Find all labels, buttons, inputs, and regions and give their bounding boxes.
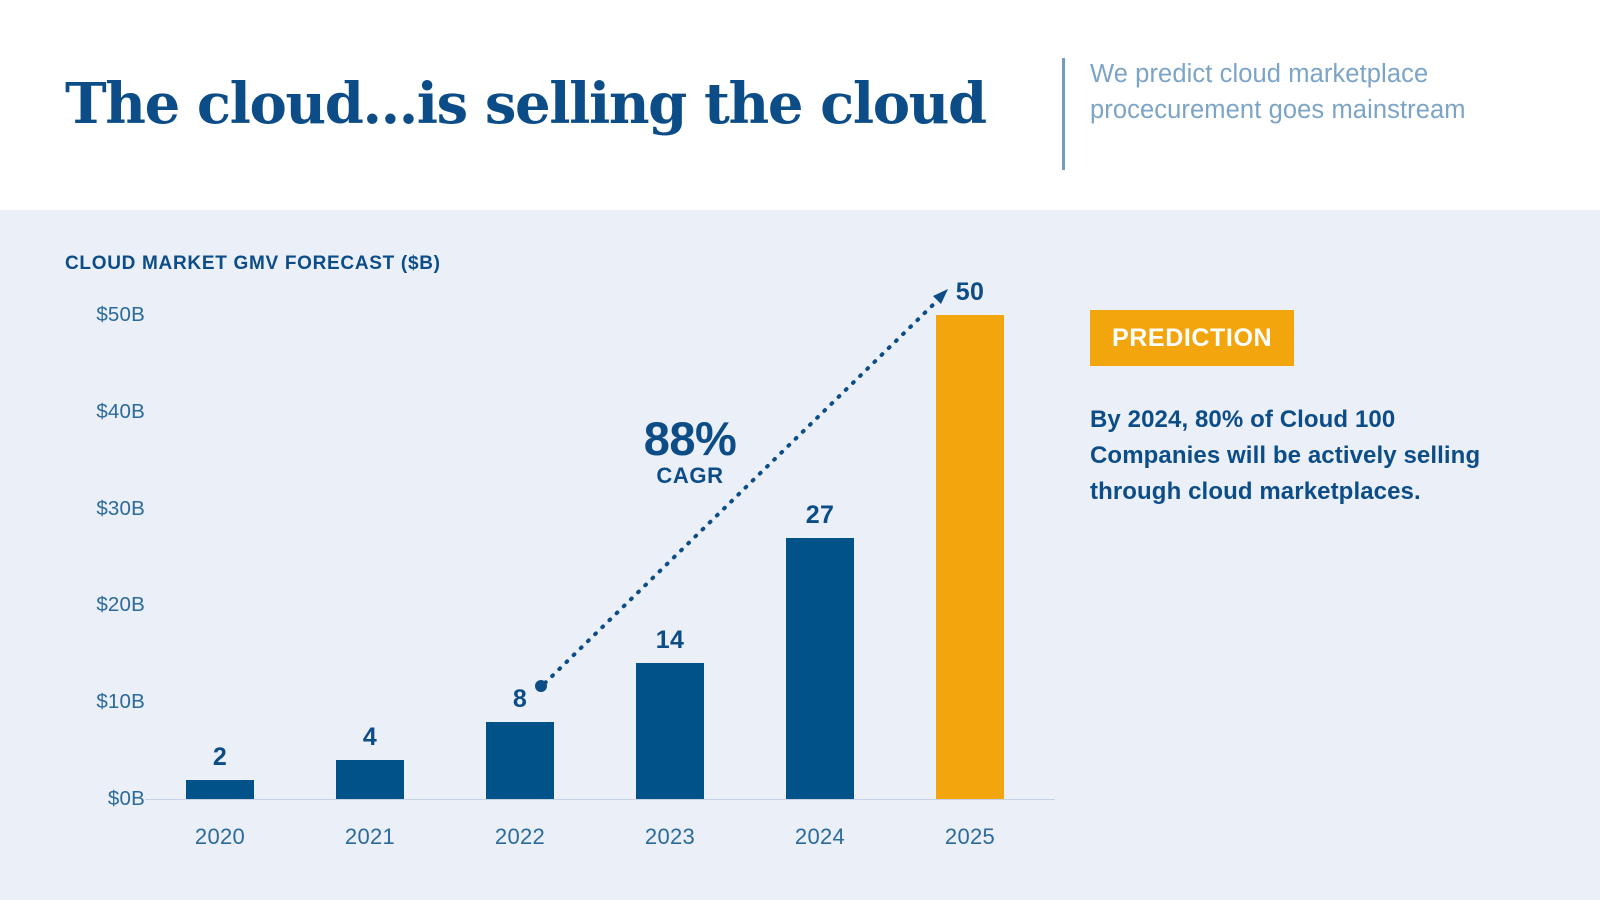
y-axis-tick-label: $10B bbox=[25, 690, 145, 714]
bar-2020[interactable] bbox=[186, 780, 254, 799]
bar-value-label: 14 bbox=[595, 626, 745, 655]
bar-2024[interactable] bbox=[786, 538, 854, 799]
content-panel: CLOUD MARKET GMV FORECAST ($B) $0B$10B$2… bbox=[0, 210, 1600, 900]
bar-group: 2 bbox=[145, 279, 295, 799]
y-axis-tick-label: $0B bbox=[25, 787, 145, 811]
bar-group: 4 bbox=[295, 279, 445, 799]
bar-group: 50 bbox=[895, 279, 1045, 799]
bar-2021[interactable] bbox=[336, 760, 404, 799]
y-axis-tick-label: $50B bbox=[25, 303, 145, 327]
prediction-badge: PREDICTION bbox=[1090, 310, 1294, 366]
subtitle-accent-rule bbox=[1062, 58, 1065, 170]
bar-group: 8 bbox=[445, 279, 595, 799]
x-axis-line bbox=[145, 799, 1055, 800]
bar-2025[interactable] bbox=[936, 315, 1004, 799]
plot-area: 220204202182022142023272024502025 bbox=[145, 210, 1055, 900]
x-axis-label-2020: 2020 bbox=[145, 824, 295, 850]
y-axis: $0B$10B$20B$30B$40B$50B bbox=[10, 210, 145, 900]
bar-value-label: 8 bbox=[445, 685, 595, 714]
x-axis-label-2021: 2021 bbox=[295, 824, 445, 850]
subtitle-block: We predict cloud marketplace procecureme… bbox=[1062, 56, 1522, 128]
bar-2023[interactable] bbox=[636, 663, 704, 799]
x-axis-label-2025: 2025 bbox=[895, 824, 1045, 850]
bar-chart: $0B$10B$20B$30B$40B$50B 2202042021820221… bbox=[0, 210, 1080, 900]
x-axis-label-2024: 2024 bbox=[745, 824, 895, 850]
bar-value-label: 2 bbox=[145, 743, 295, 772]
bar-value-label: 4 bbox=[295, 723, 445, 752]
y-axis-tick-label: $20B bbox=[25, 593, 145, 617]
page-title: The cloud...is selling the cloud bbox=[65, 72, 986, 136]
page-header: The cloud...is selling the cloud We pred… bbox=[0, 0, 1600, 210]
bar-value-label: 27 bbox=[745, 501, 895, 530]
bar-2022[interactable] bbox=[486, 722, 554, 799]
y-axis-tick-label: $30B bbox=[25, 497, 145, 521]
prediction-panel: PREDICTION By 2024, 80% of Cloud 100 Com… bbox=[1090, 310, 1530, 510]
bar-group: 27 bbox=[745, 279, 895, 799]
x-axis-label-2023: 2023 bbox=[595, 824, 745, 850]
bar-group: 14 bbox=[595, 279, 745, 799]
x-axis-label-2022: 2022 bbox=[445, 824, 595, 850]
subtitle-text: We predict cloud marketplace procecureme… bbox=[1090, 56, 1522, 128]
y-axis-tick-label: $40B bbox=[25, 400, 145, 424]
bar-value-label: 50 bbox=[895, 278, 1045, 307]
prediction-body-text: By 2024, 80% of Cloud 100 Companies will… bbox=[1090, 402, 1510, 510]
